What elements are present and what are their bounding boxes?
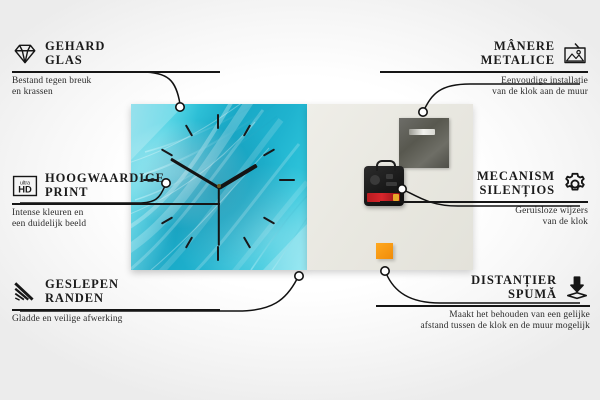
tick-12 — [217, 114, 219, 129]
divider — [12, 71, 220, 73]
tick-6 — [217, 246, 219, 261]
diamond-icon — [12, 41, 38, 67]
divider — [376, 305, 590, 307]
feature-header: MÂNERE METALICE — [380, 40, 588, 67]
divider — [380, 201, 588, 203]
divider — [380, 71, 588, 73]
feature-silent-mechanism: MECANISM SILENȚIOS Geruisloze wijzers va… — [380, 170, 588, 229]
gear-icon — [562, 171, 588, 197]
feature-header: ultra HD HOOGWAARDIGE PRINT — [12, 172, 220, 199]
beveled-edges-icon — [12, 279, 38, 305]
wall-frame-hook-icon — [562, 41, 588, 67]
metal-hanger-plate — [399, 118, 449, 168]
feature-header: GEHARD GLAS — [12, 40, 220, 67]
hanger-slot — [409, 129, 435, 135]
foam-spacer — [376, 243, 393, 259]
feature-metal-hooks: MÂNERE METALICE Eenvoudige installatie v… — [380, 40, 588, 99]
ultra-hd-icon: ultra HD — [12, 173, 38, 199]
feature-description: Eenvoudige installatie van de klok aan d… — [380, 76, 588, 99]
divider — [12, 203, 220, 205]
feature-description: Maakt het behouden van een gelijke afsta… — [376, 310, 590, 333]
feature-header: GESLEPEN RANDEN — [12, 278, 220, 305]
down-arrow-layers-icon — [564, 275, 590, 301]
feature-description: Intense kleuren en een duidelijk beeld — [12, 208, 220, 231]
feature-title: GEHARD GLAS — [45, 40, 105, 67]
feature-description: Geruisloze wijzers van de klok — [380, 206, 588, 229]
feature-header: MECANISM SILENȚIOS — [380, 170, 588, 197]
endpoint-polished-edges — [295, 272, 303, 280]
feature-polished-edges: GESLEPEN RANDEN Gladde en veilige afwerk… — [12, 278, 220, 325]
feature-hd-print: ultra HD HOOGWAARDIGE PRINT Intense kleu… — [12, 172, 220, 231]
tick-3 — [279, 179, 295, 181]
mechanism-dial — [370, 175, 380, 185]
feature-foam-spacer: DISTANȚIER SPUMĂ Maakt het behouden van … — [376, 274, 590, 333]
infographic-canvas: GEHARD GLAS Bestand tegen breuk en krass… — [0, 0, 600, 400]
feature-header: DISTANȚIER SPUMĂ — [376, 274, 590, 301]
feature-description: Gladde en veilige afwerking — [12, 314, 220, 326]
feature-title: DISTANȚIER SPUMĂ — [471, 274, 557, 301]
feature-tempered-glass: GEHARD GLAS Bestand tegen breuk en krass… — [12, 40, 220, 99]
feature-title: GESLEPEN RANDEN — [45, 278, 119, 305]
feature-title: MECANISM SILENȚIOS — [477, 170, 555, 197]
svg-text:HD: HD — [18, 183, 32, 194]
feature-title: HOOGWAARDIGE PRINT — [45, 172, 165, 199]
feature-description: Bestand tegen breuk en krassen — [12, 76, 220, 99]
divider — [12, 309, 220, 311]
feature-title: MÂNERE METALICE — [481, 40, 555, 67]
